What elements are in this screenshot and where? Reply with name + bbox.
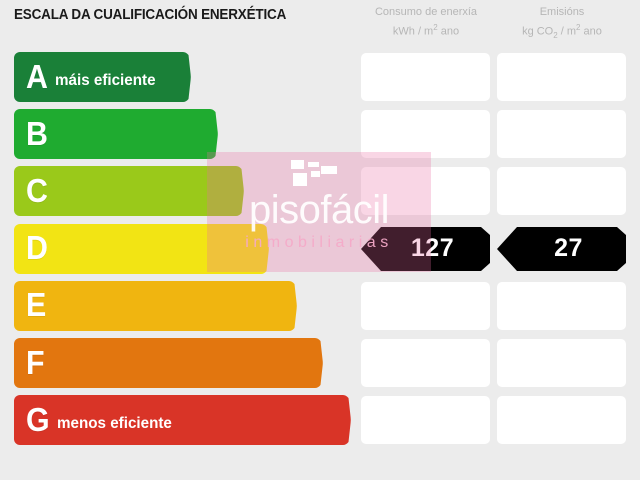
- empty-cell-emisions-b: [497, 110, 626, 158]
- column-header-emisions-line1: Emisións: [540, 6, 585, 18]
- empty-cell-emisions-e: [497, 282, 626, 330]
- rating-row-d: D12727: [0, 224, 640, 274]
- empty-cell-emisions-a: [497, 53, 626, 101]
- rating-bar-g: Gmenos eficiente: [14, 395, 335, 445]
- rating-bar-c: C: [14, 166, 228, 216]
- value-badge-emisions: 27: [497, 225, 626, 273]
- empty-cell-emisions-c: [497, 167, 626, 215]
- rating-letter-a: A: [26, 60, 48, 93]
- column-header-consumo-line1: Consumo de enerxía: [375, 6, 477, 18]
- empty-cell-emisions-g: [497, 396, 626, 444]
- rating-bar-e: E: [14, 281, 281, 331]
- rating-bar-b: B: [14, 109, 202, 159]
- efficiency-note-a: máis eficiente: [55, 72, 156, 90]
- rating-letter-c: C: [26, 174, 48, 207]
- empty-cell-consumo-a: [361, 53, 490, 101]
- rating-bar-f: F: [14, 338, 307, 388]
- column-header-consumo-line2: kWh / m2 ano: [361, 20, 491, 40]
- rating-letter-f: F: [26, 346, 45, 379]
- rating-row-f: F: [0, 338, 640, 388]
- value-text-consumo: 127: [397, 234, 454, 263]
- bar-arrow-tip-icon: [202, 109, 218, 159]
- value-badge-consumo: 127: [361, 225, 490, 273]
- empty-cell-consumo-c: [361, 167, 490, 215]
- empty-cell-emisions-f: [497, 339, 626, 387]
- bar-arrow-tip-icon: [281, 281, 297, 331]
- rating-bar-d: D: [14, 224, 253, 274]
- rating-row-g: Gmenos eficiente: [0, 395, 640, 445]
- rating-letter-b: B: [26, 117, 48, 150]
- value-text-emisions: 27: [540, 234, 583, 263]
- column-header-emisions: Emisións kg CO2 / m2 ano: [497, 5, 627, 43]
- empty-cell-consumo-b: [361, 110, 490, 158]
- rating-row-a: Amáis eficiente: [0, 52, 640, 102]
- bar-arrow-tip-icon: [253, 224, 269, 274]
- empty-cell-consumo-f: [361, 339, 490, 387]
- bar-arrow-tip-icon: [335, 395, 351, 445]
- bar-arrow-tip-icon: [307, 338, 323, 388]
- page-title: ESCALA DA CUALIFICACIÓN ENERXÉTICA: [14, 7, 286, 23]
- energy-rating-scale: Amáis eficienteBCD12727EFGmenos eficient…: [0, 46, 640, 480]
- rating-row-b: B: [0, 109, 640, 159]
- rating-letter-e: E: [26, 288, 46, 321]
- efficiency-note-g: menos eficiente: [57, 415, 172, 433]
- column-header-consumo: Consumo de enerxía kWh / m2 ano: [361, 5, 491, 40]
- empty-cell-consumo-e: [361, 282, 490, 330]
- rating-bar-a: Amáis eficiente: [14, 52, 175, 102]
- bar-arrow-tip-icon: [228, 166, 244, 216]
- rating-row-e: E: [0, 281, 640, 331]
- rating-letter-g: G: [26, 403, 50, 436]
- empty-cell-consumo-g: [361, 396, 490, 444]
- label-header: ESCALA DA CUALIFICACIÓN ENERXÉTICA Consu…: [0, 0, 640, 46]
- column-header-emisions-line2: kg CO2 / m2 ano: [497, 20, 627, 43]
- rating-letter-d: D: [26, 231, 48, 264]
- rating-row-c: C: [0, 166, 640, 216]
- bar-arrow-tip-icon: [175, 52, 191, 102]
